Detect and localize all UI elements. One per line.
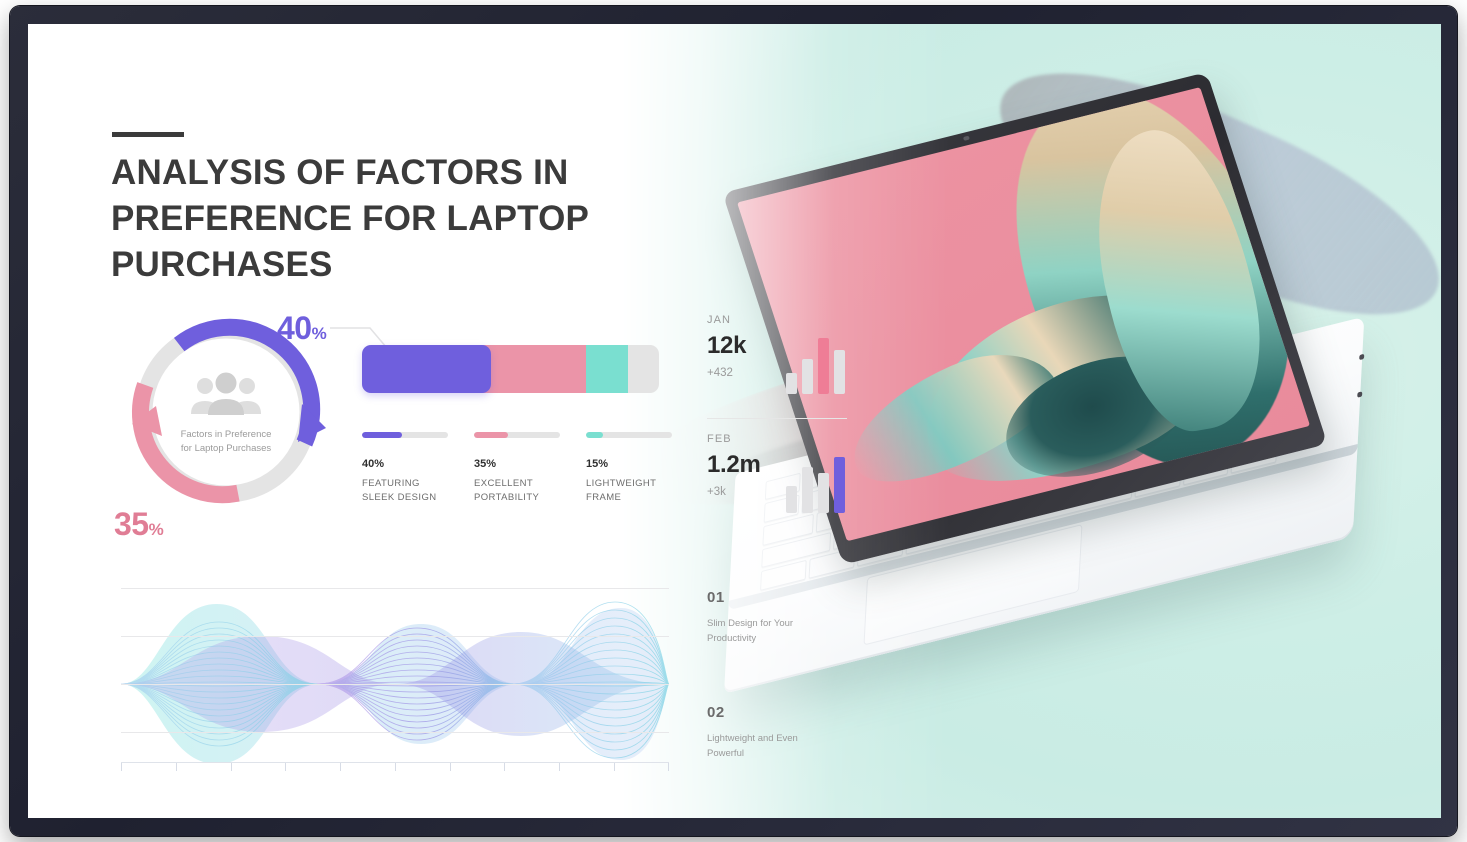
donut-callout-primary: 40% <box>277 310 326 347</box>
usb-port <box>1359 354 1364 360</box>
gridline <box>121 684 669 685</box>
notes-spacer <box>707 646 857 704</box>
axis-tick <box>176 763 177 771</box>
legend-label-line-1: LIGHTWEIGHT <box>586 477 672 491</box>
mini-bar <box>834 350 845 394</box>
donut-callout-secondary-unit: % <box>149 520 164 539</box>
axis-tick <box>668 763 669 771</box>
legend-label-line-2: FRAME <box>586 491 672 505</box>
feature-note-01: 01 Slim Design for Your Productivity <box>707 589 857 646</box>
slide-canvas: ANALYSIS OF FACTORS IN PREFERENCE FOR LA… <box>28 24 1441 818</box>
legend-label-line-2: PORTABILITY <box>474 491 560 505</box>
feature-note-text-line-1: Slim Design for Your <box>707 617 857 632</box>
page-title-line-1: ANALYSIS OF FACTORS IN <box>111 150 811 196</box>
feature-note-text-line-2: Powerful <box>707 747 857 762</box>
legend-percent: 40% <box>362 458 448 470</box>
legend-fill <box>586 432 603 438</box>
mini-bar <box>802 359 813 394</box>
mini-bar <box>786 486 797 513</box>
feature-note-text: Slim Design for Your Productivity <box>707 617 857 646</box>
feature-note-02: 02 Lightweight and Even Powerful <box>707 704 857 761</box>
mini-bar <box>802 467 813 513</box>
legend-fill <box>474 432 508 438</box>
axis-tick <box>395 763 396 771</box>
legend-label: LIGHTWEIGHT FRAME <box>586 477 672 505</box>
stacked-bar-chart <box>362 345 668 393</box>
stacked-bar-segment-sleek-design <box>362 345 491 393</box>
legend: 40% FEATURING SLEEK DESIGN 35% EXCELLENT… <box>362 432 672 505</box>
waveform-chart-svg <box>121 584 669 762</box>
feature-note-text-line-2: Productivity <box>707 632 857 647</box>
legend-track <box>586 432 672 438</box>
gridline <box>121 636 669 637</box>
stacked-bar-segment-portability <box>482 345 586 393</box>
donut-center-label: Factors in Preference for Laptop Purchas… <box>161 428 291 457</box>
legend-label-line-2: SLEEK DESIGN <box>362 491 448 505</box>
stat-cards: JAN 12k +432 FEB 1.2m +3k <box>707 314 847 537</box>
donut-center-label-line-1: Factors in Preference <box>161 428 291 442</box>
usb-port <box>1357 391 1362 397</box>
donut-callout-primary-unit: % <box>312 324 327 343</box>
stat-mini-bar-chart <box>786 457 845 513</box>
stat-month-label: FEB <box>707 433 847 445</box>
legend-label: EXCELLENT PORTABILITY <box>474 477 560 505</box>
infographic-content: ANALYSIS OF FACTORS IN PREFERENCE FOR LA… <box>28 24 876 818</box>
feature-notes: 01 Slim Design for Your Productivity 02 … <box>707 589 857 762</box>
legend-fill <box>362 432 402 438</box>
title-accent-rule <box>112 132 184 137</box>
stat-card-feb: FEB 1.2m +3k <box>707 433 847 537</box>
donut-callout-secondary: 35% <box>114 506 163 543</box>
axis-tick <box>614 763 615 771</box>
legend-label-line-1: FEATURING <box>362 477 448 491</box>
donut-callout-secondary-value: 35 <box>114 506 149 542</box>
mini-bar-highlight <box>818 338 829 394</box>
stacked-bar-segment-lightweight <box>586 345 629 393</box>
donut-center-label-line-2: for Laptop Purchases <box>161 442 291 456</box>
page-title: ANALYSIS OF FACTORS IN PREFERENCE FOR LA… <box>111 150 811 289</box>
legend-label: FEATURING SLEEK DESIGN <box>362 477 448 505</box>
mini-bar-highlight <box>834 457 845 513</box>
gridline <box>121 732 669 733</box>
stat-month-label: JAN <box>707 314 847 326</box>
axis-tick <box>340 763 341 771</box>
axis-tick <box>450 763 451 771</box>
mini-bar <box>786 373 797 394</box>
axis-tick <box>504 763 505 771</box>
laptop-ports <box>1357 338 1366 414</box>
waveform-chart <box>121 584 669 779</box>
legend-label-line-1: EXCELLENT <box>474 477 560 491</box>
axis-tick <box>285 763 286 771</box>
people-icon <box>189 372 263 416</box>
webcam-icon <box>963 136 970 141</box>
gridline <box>121 588 669 589</box>
feature-note-text-line-1: Lightweight and Even <box>707 732 857 747</box>
legend-track <box>362 432 448 438</box>
feature-note-text: Lightweight and Even Powerful <box>707 732 857 761</box>
stat-card-jan: JAN 12k +432 <box>707 314 847 418</box>
legend-item-sleek-design: 40% FEATURING SLEEK DESIGN <box>362 432 448 505</box>
mini-bar <box>818 473 829 513</box>
stacked-bar-segment-other <box>628 345 659 393</box>
legend-item-lightweight-frame: 15% LIGHTWEIGHT FRAME <box>586 432 672 505</box>
legend-item-portability: 35% EXCELLENT PORTABILITY <box>474 432 560 505</box>
legend-track <box>474 432 560 438</box>
feature-note-number: 02 <box>707 704 857 721</box>
stat-mini-bar-chart <box>786 338 845 394</box>
donut-callout-primary-value: 40 <box>277 310 312 346</box>
axis-tick <box>121 763 122 771</box>
monitor-bezel: ANALYSIS OF FACTORS IN PREFERENCE FOR LA… <box>10 6 1457 836</box>
axis-tick <box>559 763 560 771</box>
stat-divider <box>707 418 847 419</box>
page-title-line-2: PREFERENCE FOR LAPTOP PURCHASES <box>111 196 811 288</box>
legend-percent: 35% <box>474 458 560 470</box>
feature-note-number: 01 <box>707 589 857 606</box>
legend-percent: 15% <box>586 458 672 470</box>
axis-tick <box>231 763 232 771</box>
